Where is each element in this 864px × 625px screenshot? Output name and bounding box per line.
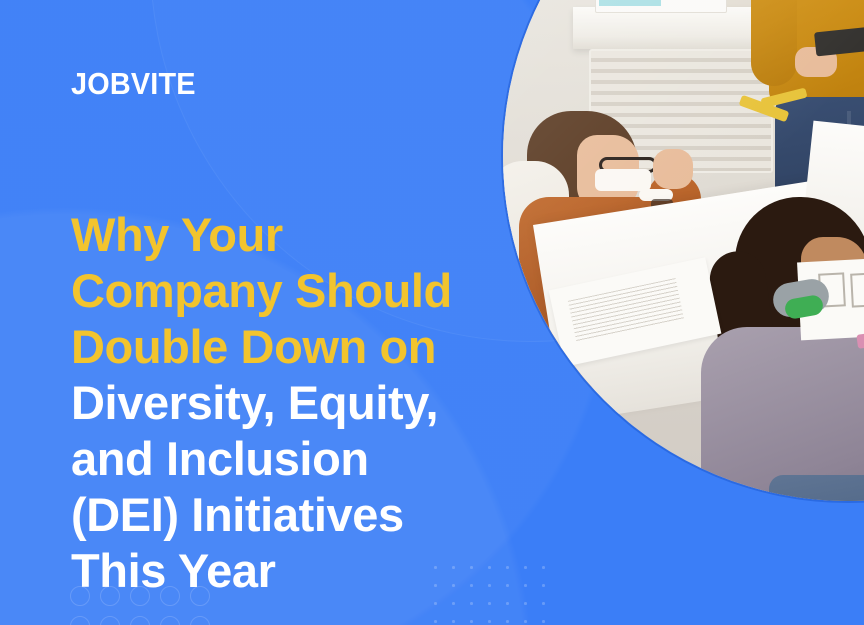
headline-line-2: Company Should [71,263,491,319]
hero-photo-circle [503,0,864,501]
paper-tray-tab-5 [599,0,661,6]
grid-dot [506,602,509,605]
page-title: Why Your Company Should Double Down on D… [71,207,491,599]
ring-pattern-decoration [70,586,250,625]
grid-dot [470,566,473,569]
grid-dot [452,566,455,569]
grid-dot [488,602,491,605]
grid-dot [434,620,437,623]
person-standing-arm-left [751,0,797,86]
person-foreground-jeans [769,475,864,501]
grid-dot [452,620,455,623]
grid-dot [434,566,437,569]
grid-dot [506,566,509,569]
grid-dot [542,566,545,569]
grid-dot [506,620,509,623]
person-seated-hand-raised [653,149,693,189]
grid-dot [470,602,473,605]
grid-dot [488,620,491,623]
grid-dot [506,584,509,587]
grid-dot [524,620,527,623]
dot-grid-decoration [434,566,554,625]
grid-dot [452,602,455,605]
office-team-photo [503,0,864,501]
grid-dot [542,620,545,623]
headline-line-3: Double Down on [71,319,491,375]
ring-dot [160,586,180,606]
ring-dot [70,616,90,625]
headline-line-6: (DEI) Initiatives [71,487,491,543]
ring-dot [190,586,210,606]
ring-dot [190,616,210,625]
grid-dot [434,584,437,587]
grid-dot [524,602,527,605]
ring-dot [130,586,150,606]
grid-dot [524,584,527,587]
grid-dot [470,620,473,623]
headline-line-1: Why Your [71,207,491,263]
ring-dot [130,616,150,625]
headline-line-4: Diversity, Equity, [71,375,491,431]
grid-dot [470,584,473,587]
hero-banner: JOBVITE Why Your Company Should Double D… [0,0,864,625]
jobvite-logo[interactable]: JOBVITE [71,64,196,104]
grid-dot [452,584,455,587]
wireframe-box-2 [850,272,864,307]
grid-dot [524,566,527,569]
grid-dot [488,566,491,569]
ring-dot [100,586,120,606]
grid-dot [434,602,437,605]
ring-dot [100,616,120,625]
ring-dot [70,586,90,606]
grid-dot [542,584,545,587]
grid-dot [488,584,491,587]
grid-dot [542,602,545,605]
headline-line-5: and Inclusion [71,431,491,487]
ring-dot [160,616,180,625]
person-seated-collar [595,169,651,191]
